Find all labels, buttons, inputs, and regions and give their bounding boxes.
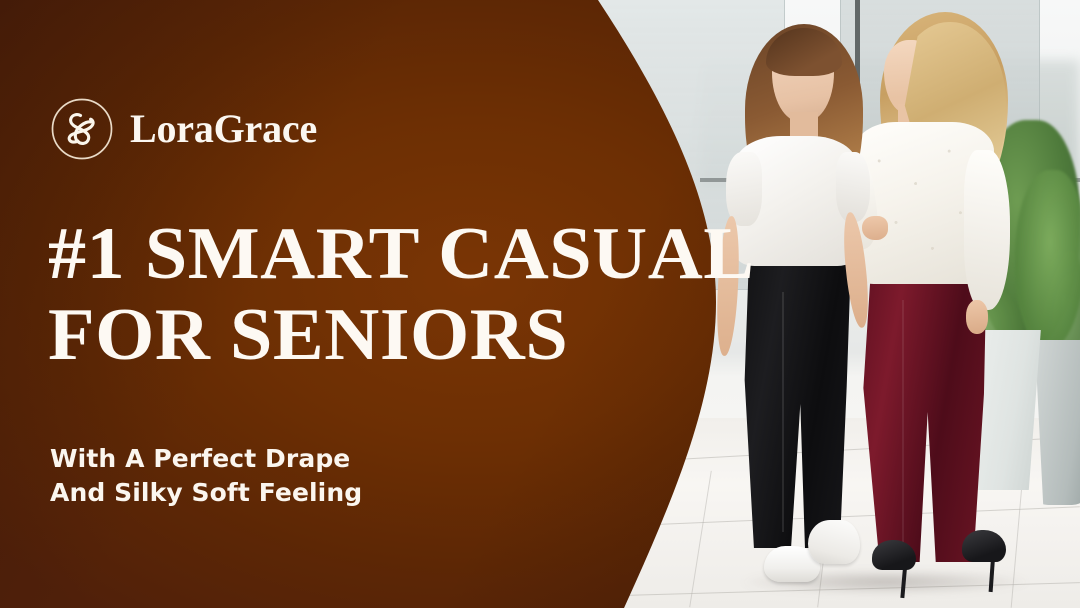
model-right-hand-right	[966, 300, 988, 334]
subheadline: With A Perfect Drape And Silky Soft Feel…	[50, 442, 362, 510]
model-right-sleeve-right	[964, 150, 1010, 310]
model-right-trouser-crease	[902, 300, 904, 550]
model-right-hand	[862, 216, 888, 240]
subheadline-line-1: With A Perfect Drape	[50, 442, 362, 476]
headline-line-1: #1 Smart Casual	[48, 222, 748, 287]
banner-content: LoraGrace #1 Smart Casual For Seniors Wi…	[0, 0, 640, 608]
model-left-trouser-crease	[782, 292, 784, 532]
brand-logo[interactable]: LoraGrace	[50, 97, 317, 161]
plant-foliage	[1015, 170, 1080, 350]
advertisement-banner: LoraGrace #1 Smart Casual For Seniors Wi…	[0, 0, 1080, 608]
script-l-monogram-icon	[50, 97, 114, 161]
model-right-black-heel	[872, 540, 916, 570]
subheadline-line-2: And Silky Soft Feeling	[50, 476, 362, 510]
page-title: #1 Smart Casual For Seniors	[48, 222, 748, 368]
model-left-sleeve-right	[836, 152, 870, 222]
model-right-black-heel	[962, 530, 1006, 562]
brand-name: LoraGrace	[130, 109, 317, 149]
model-left-white-sneaker	[808, 520, 860, 564]
headline-line-2: For Seniors	[48, 303, 748, 368]
